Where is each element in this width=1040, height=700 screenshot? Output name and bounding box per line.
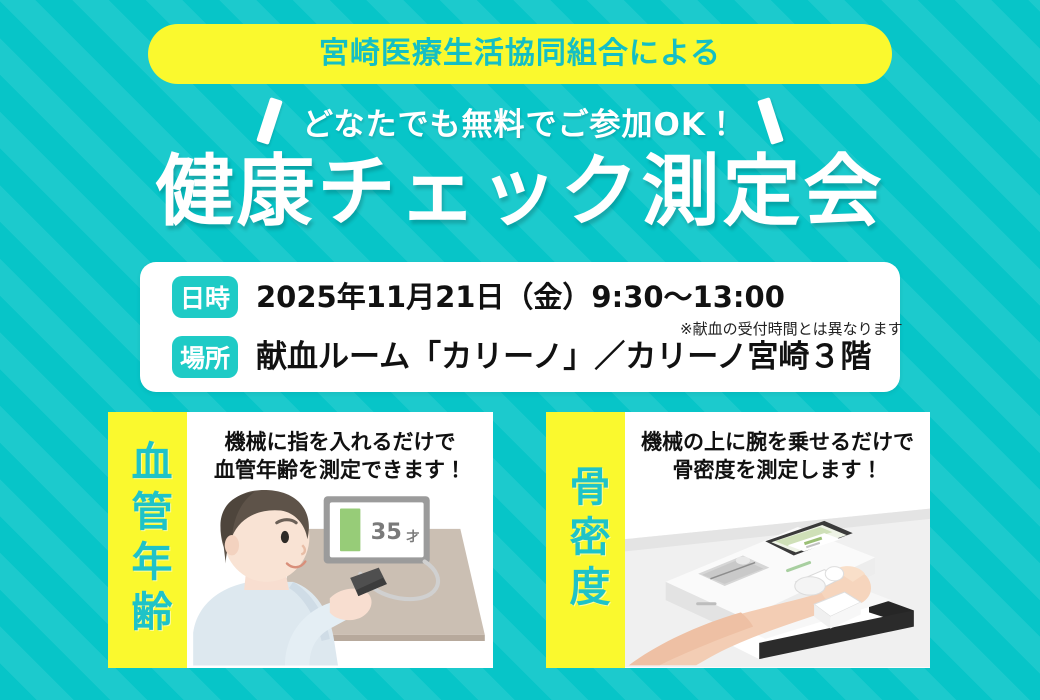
slash-right-icon [757,97,784,145]
card-body-vascular-age: 機械に指を入れるだけで 血管年齢を測定できます！ 35 才 [187,412,493,668]
card-bone-density: 骨密度 機械の上に腕を乗せるだけで 骨密度を測定します！ [546,412,930,668]
svg-text:才: 才 [405,529,419,546]
poster-root: 宮崎医療生活協同組合による どなたでも無料でご参加OK！ 健康チェック測定会 日… [0,0,1040,700]
subtitle-text: どなたでも無料でご参加OK！ [302,99,738,144]
card-label-bone-density-text: 骨密度 [565,465,606,615]
organizer-banner-text: 宮崎医療生活協同組合による [319,39,721,69]
place-value: 献血ルーム「カリーノ」／カリーノ宮崎３階 [256,336,871,378]
card-caption-line2: 骨密度を測定します！ [641,457,914,485]
event-info-box: 日時 2025年11月21日（金）9:30〜13:00 ※献血の受付時間とは異な… [140,262,900,392]
info-row-place: 場所 献血ルーム「カリーノ」／カリーノ宮崎３階 [172,336,871,378]
vascular-age-illustration-svg: 35 才 [187,484,493,668]
card-caption-bone-density: 機械の上に腕を乗せるだけで 骨密度を測定します！ [641,429,914,484]
date-value: 2025年11月21日（金）9:30〜13:00 [256,276,785,318]
page-title: 健康チェック測定会 [0,152,1040,234]
bone-density-photo [625,484,930,668]
card-label-bone-density: 骨密度 [546,412,625,668]
svg-text:35: 35 [371,520,402,546]
slash-left-icon [256,97,283,145]
card-caption-line1: 機械の上に腕を乗せるだけで [641,429,914,457]
info-row-date: 日時 2025年11月21日（金）9:30〜13:00 [172,276,785,318]
bone-density-photo-svg [625,484,930,668]
card-vascular-age: 血管年齢 機械に指を入れるだけで 血管年齢を測定できます！ 35 才 [108,412,493,668]
card-caption-line1: 機械に指を入れるだけで [214,429,466,457]
card-label-vascular-age-text: 血管年齢 [127,440,168,640]
date-badge: 日時 [172,276,238,318]
place-badge: 場所 [172,336,238,378]
vascular-age-illustration: 35 才 [187,484,493,668]
card-body-bone-density: 機械の上に腕を乗せるだけで 骨密度を測定します！ [625,412,930,668]
organizer-banner: 宮崎医療生活協同組合による [148,24,892,84]
subtitle-row: どなたでも無料でご参加OK！ [0,93,1040,149]
card-label-vascular-age: 血管年齢 [108,412,187,668]
card-caption-line2: 血管年齢を測定できます！ [214,457,466,485]
card-caption-vascular-age: 機械に指を入れるだけで 血管年齢を測定できます！ [214,429,466,484]
